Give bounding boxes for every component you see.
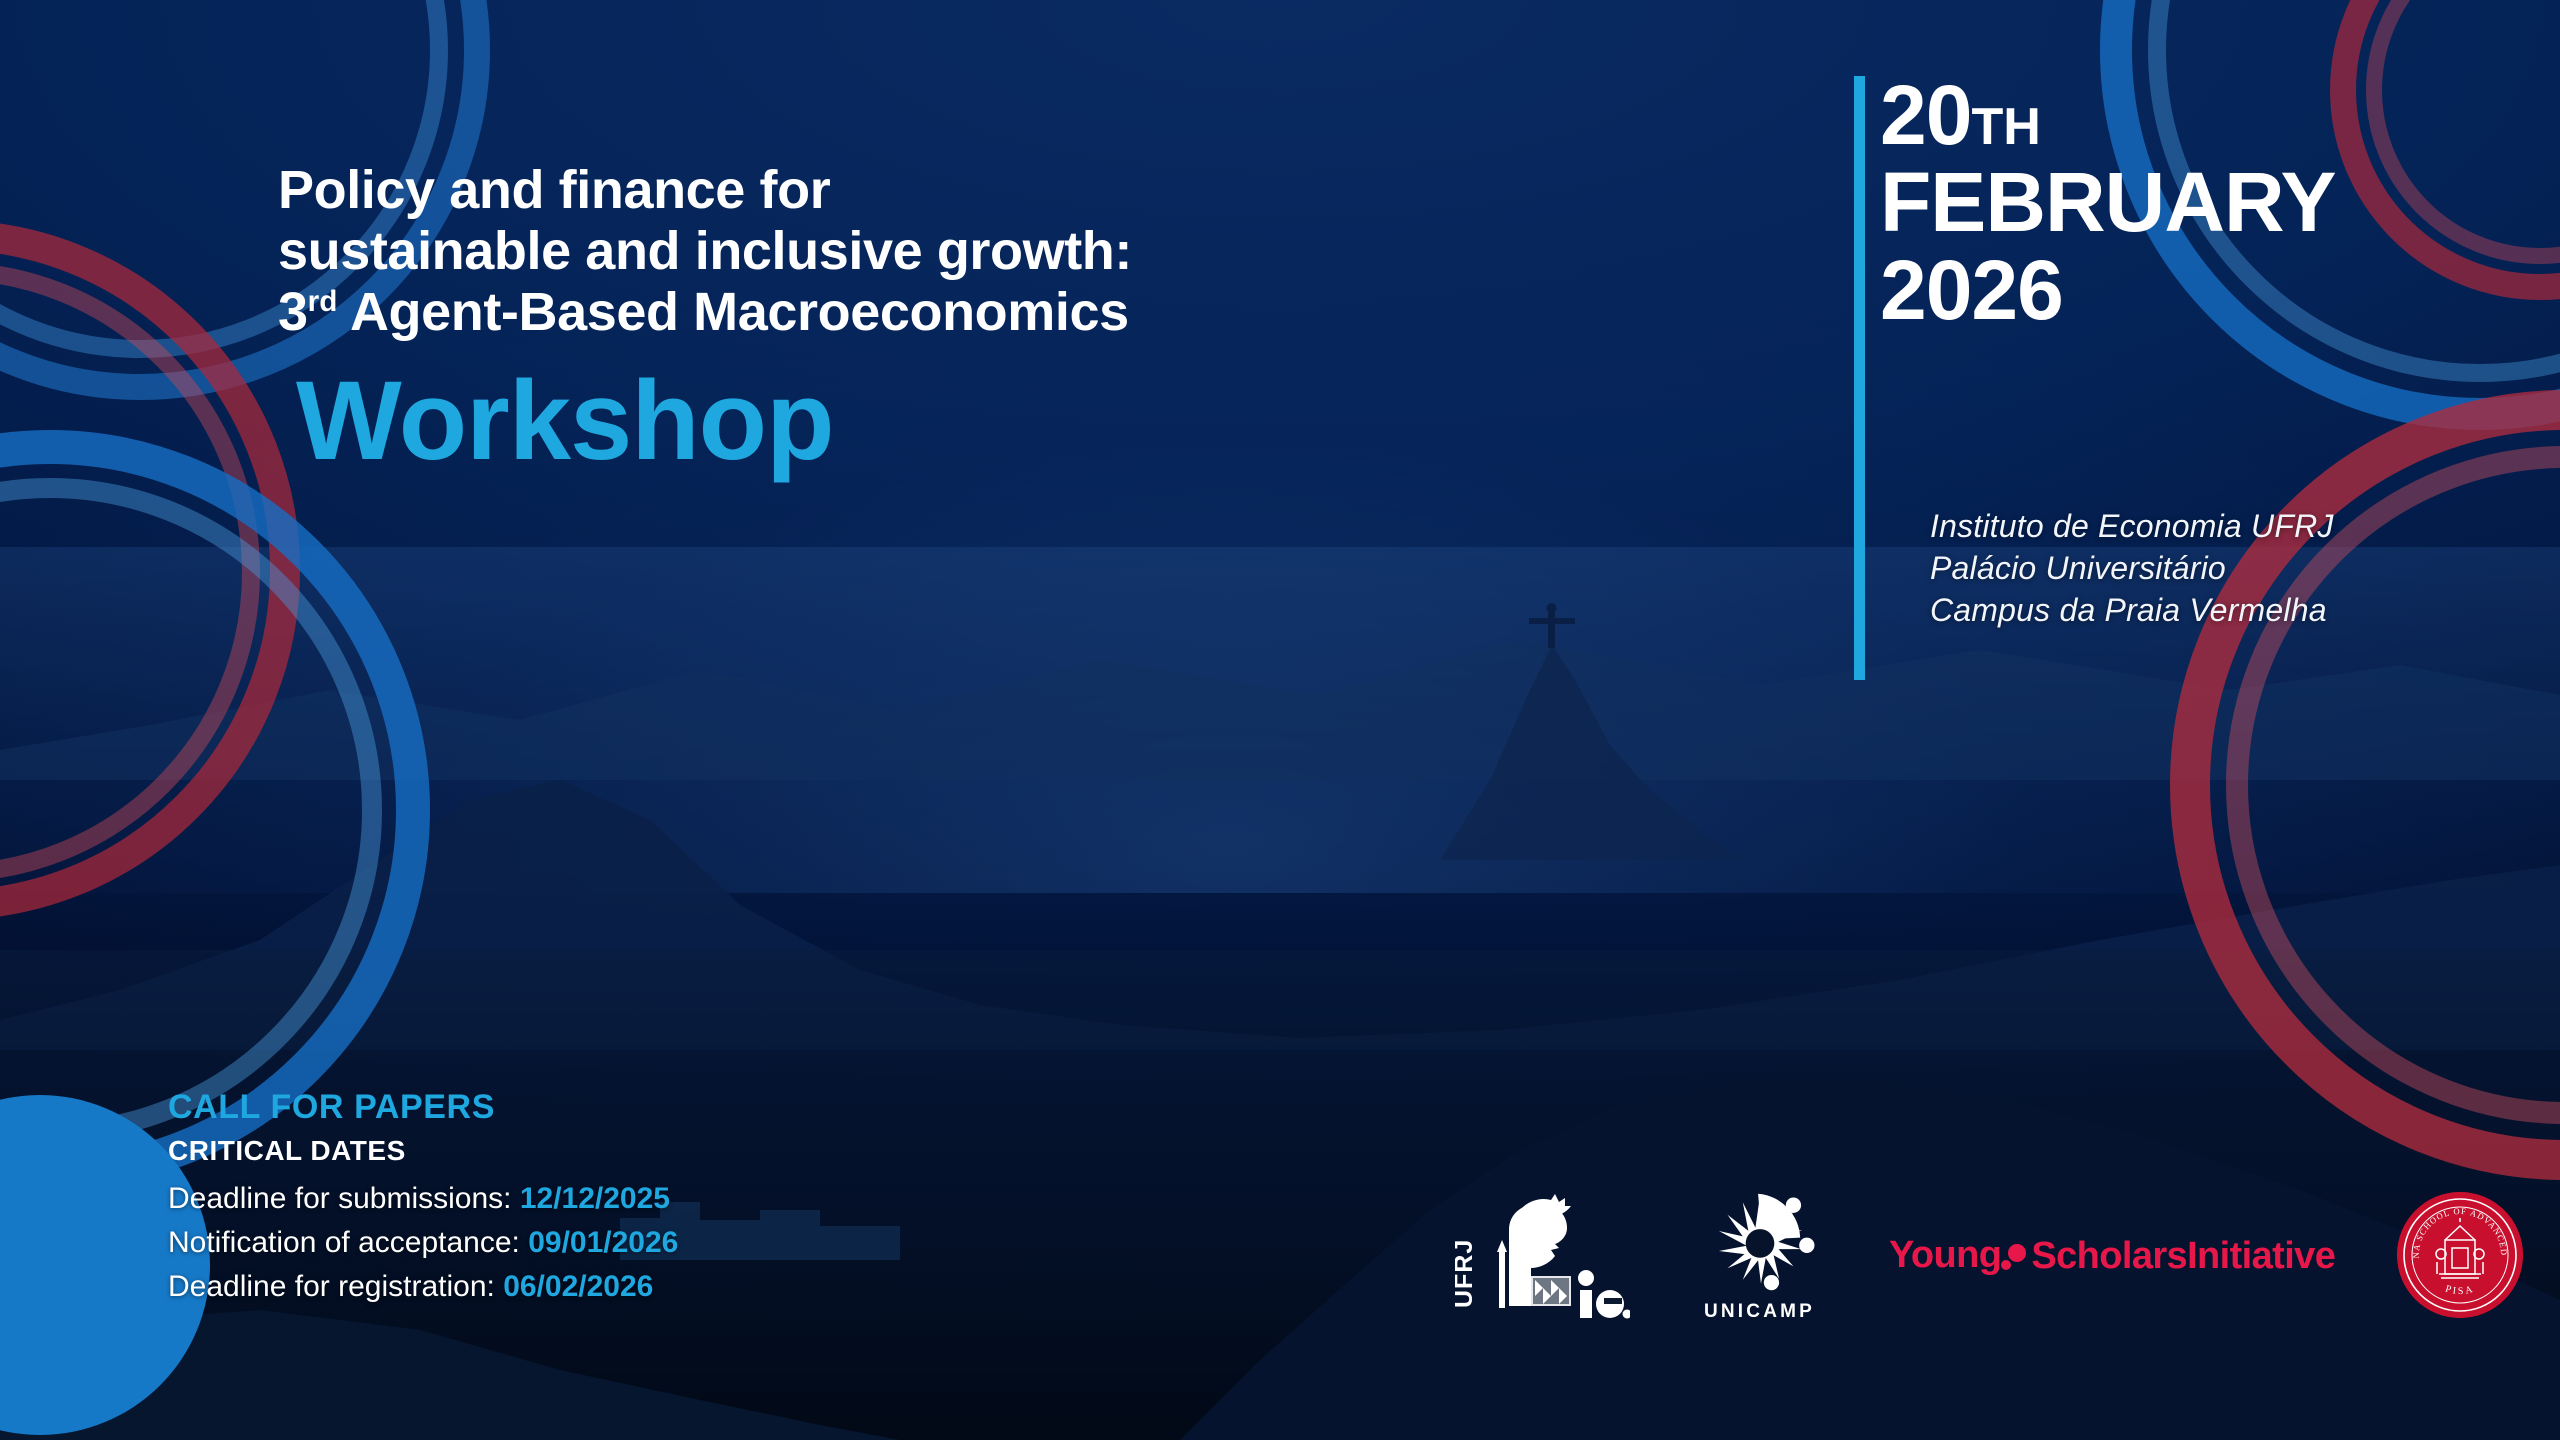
edition-ordinal: rd [308,285,338,318]
critical-dates-subheading: CRITICAL DATES [168,1135,678,1167]
deadline-row-submissions: Deadline for submissions: 12/12/2025 [168,1177,678,1221]
ysi-dots-icon [2001,1239,2027,1273]
poster-content: Policy and finance for sustainable and i… [0,0,2560,1440]
conference-poster: Policy and finance for sustainable and i… [0,0,2560,1440]
call-for-papers-block: CALL FOR PAPERS CRITICAL DATES Deadline … [168,1088,678,1308]
deadline-row-notification: Notification of acceptance: 09/01/2026 [168,1221,678,1265]
sponsor-logo-row: UFRJ [1455,1175,2560,1335]
venue-line-3: Campus da Praia Vermelha [1930,589,2334,631]
title-line-1: Policy and finance for [278,160,1578,221]
deadline-date-notification: 09/01/2026 [528,1226,678,1259]
ufrj-wordmark: UFRJ [1455,1239,1478,1308]
workshop-highlight: Workshop [296,365,1578,477]
unicamp-wordmark: UNICAMP [1704,1301,1815,1323]
event-title-block: Policy and finance for sustainable and i… [278,160,1578,477]
venue-line-2: Palácio Universitário [1930,547,2334,589]
venue-line-1: Instituto de Economia UFRJ [1930,505,2334,547]
date-day-number: 20 [1880,68,1971,162]
unicamp-sunburst-icon [1700,1188,1820,1295]
deadline-row-registration: Deadline for registration: 06/02/2026 [168,1265,678,1309]
date-accent-bar [1854,76,1865,680]
venue-block: Instituto de Economia UFRJ Palácio Unive… [1930,505,2334,632]
date-month: FEBRUARY [1880,159,2336,246]
date-day: 20TH [1880,72,2336,159]
ysi-line-2: Scholars [2001,1237,2187,1275]
minerva-head-icon [1497,1194,1571,1308]
santanna-pisa-logo: SANT'ANNA SCHOOL OF ADVANCED STUDIES PIS… [2397,1192,2523,1318]
date-year: 2026 [1880,247,2336,334]
young-scholars-initiative-logo: Young Scholars Initiative [1889,1236,2335,1275]
deadline-date-submissions: 12/12/2025 [520,1182,670,1215]
ysi-line-3: Initiative [2187,1237,2335,1275]
deadline-label-registration: Deadline for registration: [168,1270,495,1303]
title-line-3-text: Agent-Based Macroeconomics [350,282,1129,342]
edition-number: 3 [278,282,308,342]
title-line-2: sustainable and inclusive growth: [278,221,1578,282]
date-day-ordinal: TH [1971,98,2040,156]
unicamp-logo: UNICAMP [1692,1188,1827,1323]
deadline-date-registration: 06/02/2026 [503,1270,653,1303]
ysi-line-1: Young [1889,1236,2001,1274]
deadline-label-submissions: Deadline for submissions: [168,1182,512,1215]
call-for-papers-heading: CALL FOR PAPERS [168,1088,678,1127]
deadline-label-notification: Notification of acceptance: [168,1226,520,1259]
event-date-block: 20TH FEBRUARY 2026 [1880,72,2336,334]
ysi-line-2-text: Scholars [2031,1237,2187,1275]
ufrj-ie-logo: UFRJ [1455,1190,1630,1320]
ie-wordmark [1578,1270,1630,1319]
title-line-3: 3rd Agent-Based Macroeconomics [278,282,1578,343]
